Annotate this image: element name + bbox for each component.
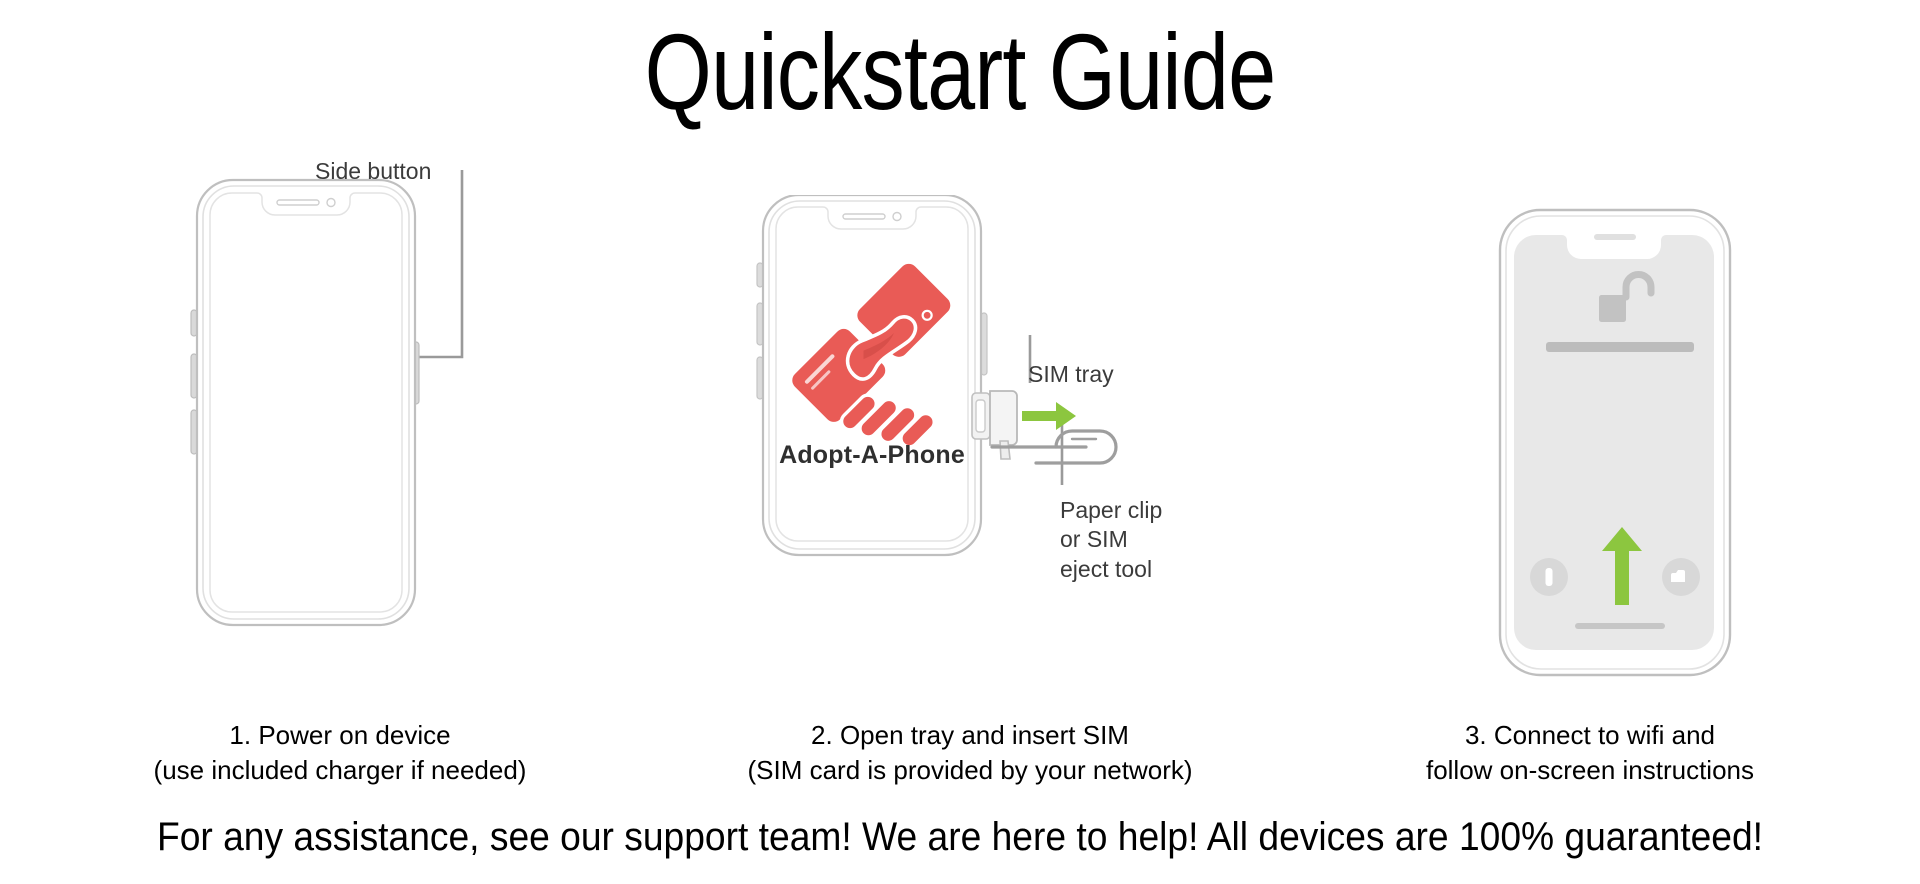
front-camera: [893, 213, 901, 221]
page-title: Quickstart Guide: [192, 14, 1728, 131]
side-button-label: Side button: [315, 157, 431, 186]
quickstart-guide-page: Quickstart Guide: [0, 0, 1920, 884]
logo-wordmark: Adopt-A-Phone: [779, 441, 965, 469]
step-3-caption: 3. Connect to wifi and follow on-screen …: [1330, 718, 1850, 787]
step-3-illustration: [1480, 205, 1760, 695]
front-camera: [327, 199, 335, 207]
side-button-leader-line: [417, 170, 462, 357]
phone-screen: [210, 193, 402, 612]
camera-icon: [1662, 558, 1700, 596]
support-footer-text: For any assistance, see our support team…: [67, 814, 1853, 860]
sim-tray-label: SIM tray: [1028, 360, 1114, 389]
arrow-right-icon: [1022, 402, 1076, 430]
earpiece-speaker: [1594, 234, 1636, 240]
earpiece-speaker: [843, 214, 885, 219]
step-2-caption: 2. Open tray and insert SIM (SIM card is…: [660, 718, 1280, 787]
step-2-illustration: Adopt-A-Phone: [700, 195, 1260, 705]
earpiece-speaker: [277, 200, 319, 205]
step-1-caption: 1. Power on device (use included charger…: [40, 718, 640, 787]
step-1-illustration: [100, 130, 640, 700]
screen-content-bar: [1546, 342, 1694, 352]
eject-tool-label: Paper clip or SIM eject tool: [1060, 496, 1162, 584]
flashlight-icon: [1530, 558, 1568, 596]
home-indicator: [1575, 623, 1665, 629]
